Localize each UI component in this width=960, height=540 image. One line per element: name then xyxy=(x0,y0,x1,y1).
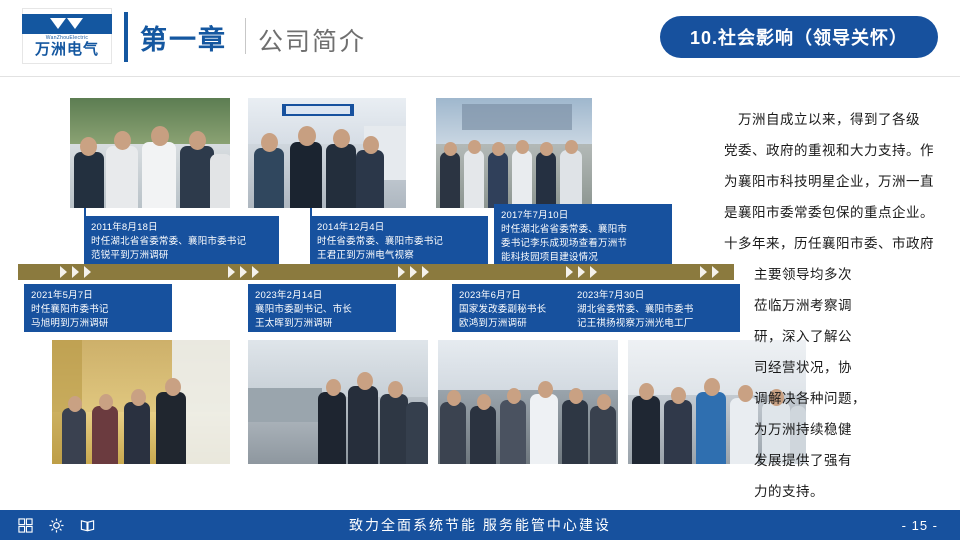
photo-2014 xyxy=(248,98,406,208)
body-line: 党委、政府的重视和大力支持。作 xyxy=(724,135,942,166)
callout-line: 能科技园项目建设情况 xyxy=(501,251,665,265)
timeline-chevron-icon xyxy=(410,266,417,278)
body-paragraph: 万洲自成立以来，得到了各级 党委、政府的重视和大力支持。作 为襄阳市科技明星企业… xyxy=(724,104,942,507)
photo-2011 xyxy=(70,98,230,208)
title-divider xyxy=(245,18,246,54)
chapter-title: 第一章 xyxy=(140,18,227,57)
timeline-chevron-icon xyxy=(72,266,79,278)
connector-2014 xyxy=(310,208,312,216)
topic-badge: 10.社会影响（领导关怀） xyxy=(660,16,938,58)
slide-header: WanZhouElectric 万洲电气 第一章 公司简介 10.社会影响（领导… xyxy=(0,0,960,76)
body-line: 司经营状况，协 xyxy=(724,352,942,383)
chapter-accent-bar xyxy=(124,12,128,62)
callout-line: 范锐平到万洲调研 xyxy=(91,249,272,263)
timeline-chevron-icon xyxy=(712,266,719,278)
callout-2023-07: 2023年7月30日 湖北省委常委、襄阳市委书 记王祺扬视察万洲光电工厂 xyxy=(570,284,740,332)
body-line: 为万洲持续稳健 xyxy=(724,414,942,445)
logo-emblem xyxy=(22,14,112,34)
photo-2023-02 xyxy=(248,340,428,464)
timeline-chevron-icon xyxy=(252,266,259,278)
logo-chinese-name: 万洲电气 xyxy=(35,41,99,59)
timeline-bar xyxy=(18,264,734,280)
chapter-subtitle: 公司简介 xyxy=(258,22,366,58)
callout-2021: 2021年5月7日 时任襄阳市委书记 马旭明到万洲调研 xyxy=(24,284,172,332)
body-line: 主要领导均多次 xyxy=(724,259,942,290)
body-line: 莅临万洲考察调 xyxy=(724,290,942,321)
body-line: 发展提供了强有 xyxy=(724,445,942,476)
body-line: 十多年来，历任襄阳市委、市政府 xyxy=(724,228,942,259)
callout-line: 时任襄阳市委书记 xyxy=(31,303,165,317)
callout-date: 2014年12月4日 xyxy=(317,221,481,235)
callout-line: 时任省委常委、襄阳市委书记 xyxy=(317,235,481,249)
timeline-chevron-icon xyxy=(60,266,67,278)
timeline-chevron-icon xyxy=(228,266,235,278)
timeline-chevron-icon xyxy=(578,266,585,278)
callout-2014: 2014年12月4日 时任省委常委、襄阳市委书记 王君正到万洲电气视察 xyxy=(310,216,488,264)
callout-2017: 2017年7月10日 时任湖北省省委常委、襄阳市 委书记李乐成现场查看万洲节 能… xyxy=(494,204,672,264)
callout-line: 王太晖到万洲调研 xyxy=(255,317,389,331)
company-logo: WanZhouElectric 万洲电气 xyxy=(22,8,112,64)
callout-line: 马旭明到万洲调研 xyxy=(31,317,165,331)
callout-date: 2017年7月10日 xyxy=(501,209,665,223)
body-line: 研，深入了解公 xyxy=(724,321,942,352)
mountain-icon xyxy=(50,17,84,31)
photo-2023-06 xyxy=(438,340,618,464)
photo-2017 xyxy=(436,98,592,208)
callout-date: 2023年7月30日 xyxy=(577,289,733,303)
footer-slogan: 致力全面系统节能 服务能管中心建设 xyxy=(0,515,960,535)
callout-2023-02: 2023年2月14日 襄阳市委副书记、市长 王太晖到万洲调研 xyxy=(248,284,396,332)
timeline-chevron-icon xyxy=(700,266,707,278)
header-divider xyxy=(0,76,960,77)
body-line: 为襄阳市科技明星企业，万洲一直 xyxy=(724,166,942,197)
callout-date: 2011年8月18日 xyxy=(91,221,272,235)
callout-2011: 2011年8月18日 时任湖北省省委常委、襄阳市委书记 范锐平到万洲调研 xyxy=(84,216,279,264)
body-line: 调解决各种问题， xyxy=(724,383,942,414)
body-line: 万洲自成立以来，得到了各级 xyxy=(724,104,942,135)
photo-2021 xyxy=(52,340,230,464)
callout-line: 时任湖北省省委常委、襄阳市委书记 xyxy=(91,235,272,249)
callout-line: 襄阳市委副书记、市长 xyxy=(255,303,389,317)
callout-line: 湖北省委常委、襄阳市委书 xyxy=(577,303,733,317)
page-number: - 15 - xyxy=(902,518,938,533)
timeline-chevron-icon xyxy=(240,266,247,278)
slide-footer: 致力全面系统节能 服务能管中心建设 - 15 - xyxy=(0,510,960,540)
timeline-chevron-icon xyxy=(422,266,429,278)
body-line: 力的支持。 xyxy=(724,476,942,507)
callout-date: 2023年2月14日 xyxy=(255,289,389,303)
callout-line: 王君正到万洲电气视察 xyxy=(317,249,481,263)
callout-line: 委书记李乐成现场查看万洲节 xyxy=(501,237,665,251)
callout-date: 2021年5月7日 xyxy=(31,289,165,303)
slide-root: WanZhouElectric 万洲电气 第一章 公司简介 10.社会影响（领导… xyxy=(0,0,960,540)
body-line: 是襄阳市委常委包保的重点企业。 xyxy=(724,197,942,228)
connector-2011 xyxy=(84,208,86,216)
callout-line: 时任湖北省省委常委、襄阳市 xyxy=(501,223,665,237)
timeline-chevron-icon xyxy=(84,266,91,278)
callout-line: 记王祺扬视察万洲光电工厂 xyxy=(577,317,733,331)
timeline-chevron-icon xyxy=(590,266,597,278)
timeline-chevron-icon xyxy=(566,266,573,278)
timeline-chevron-icon xyxy=(398,266,405,278)
